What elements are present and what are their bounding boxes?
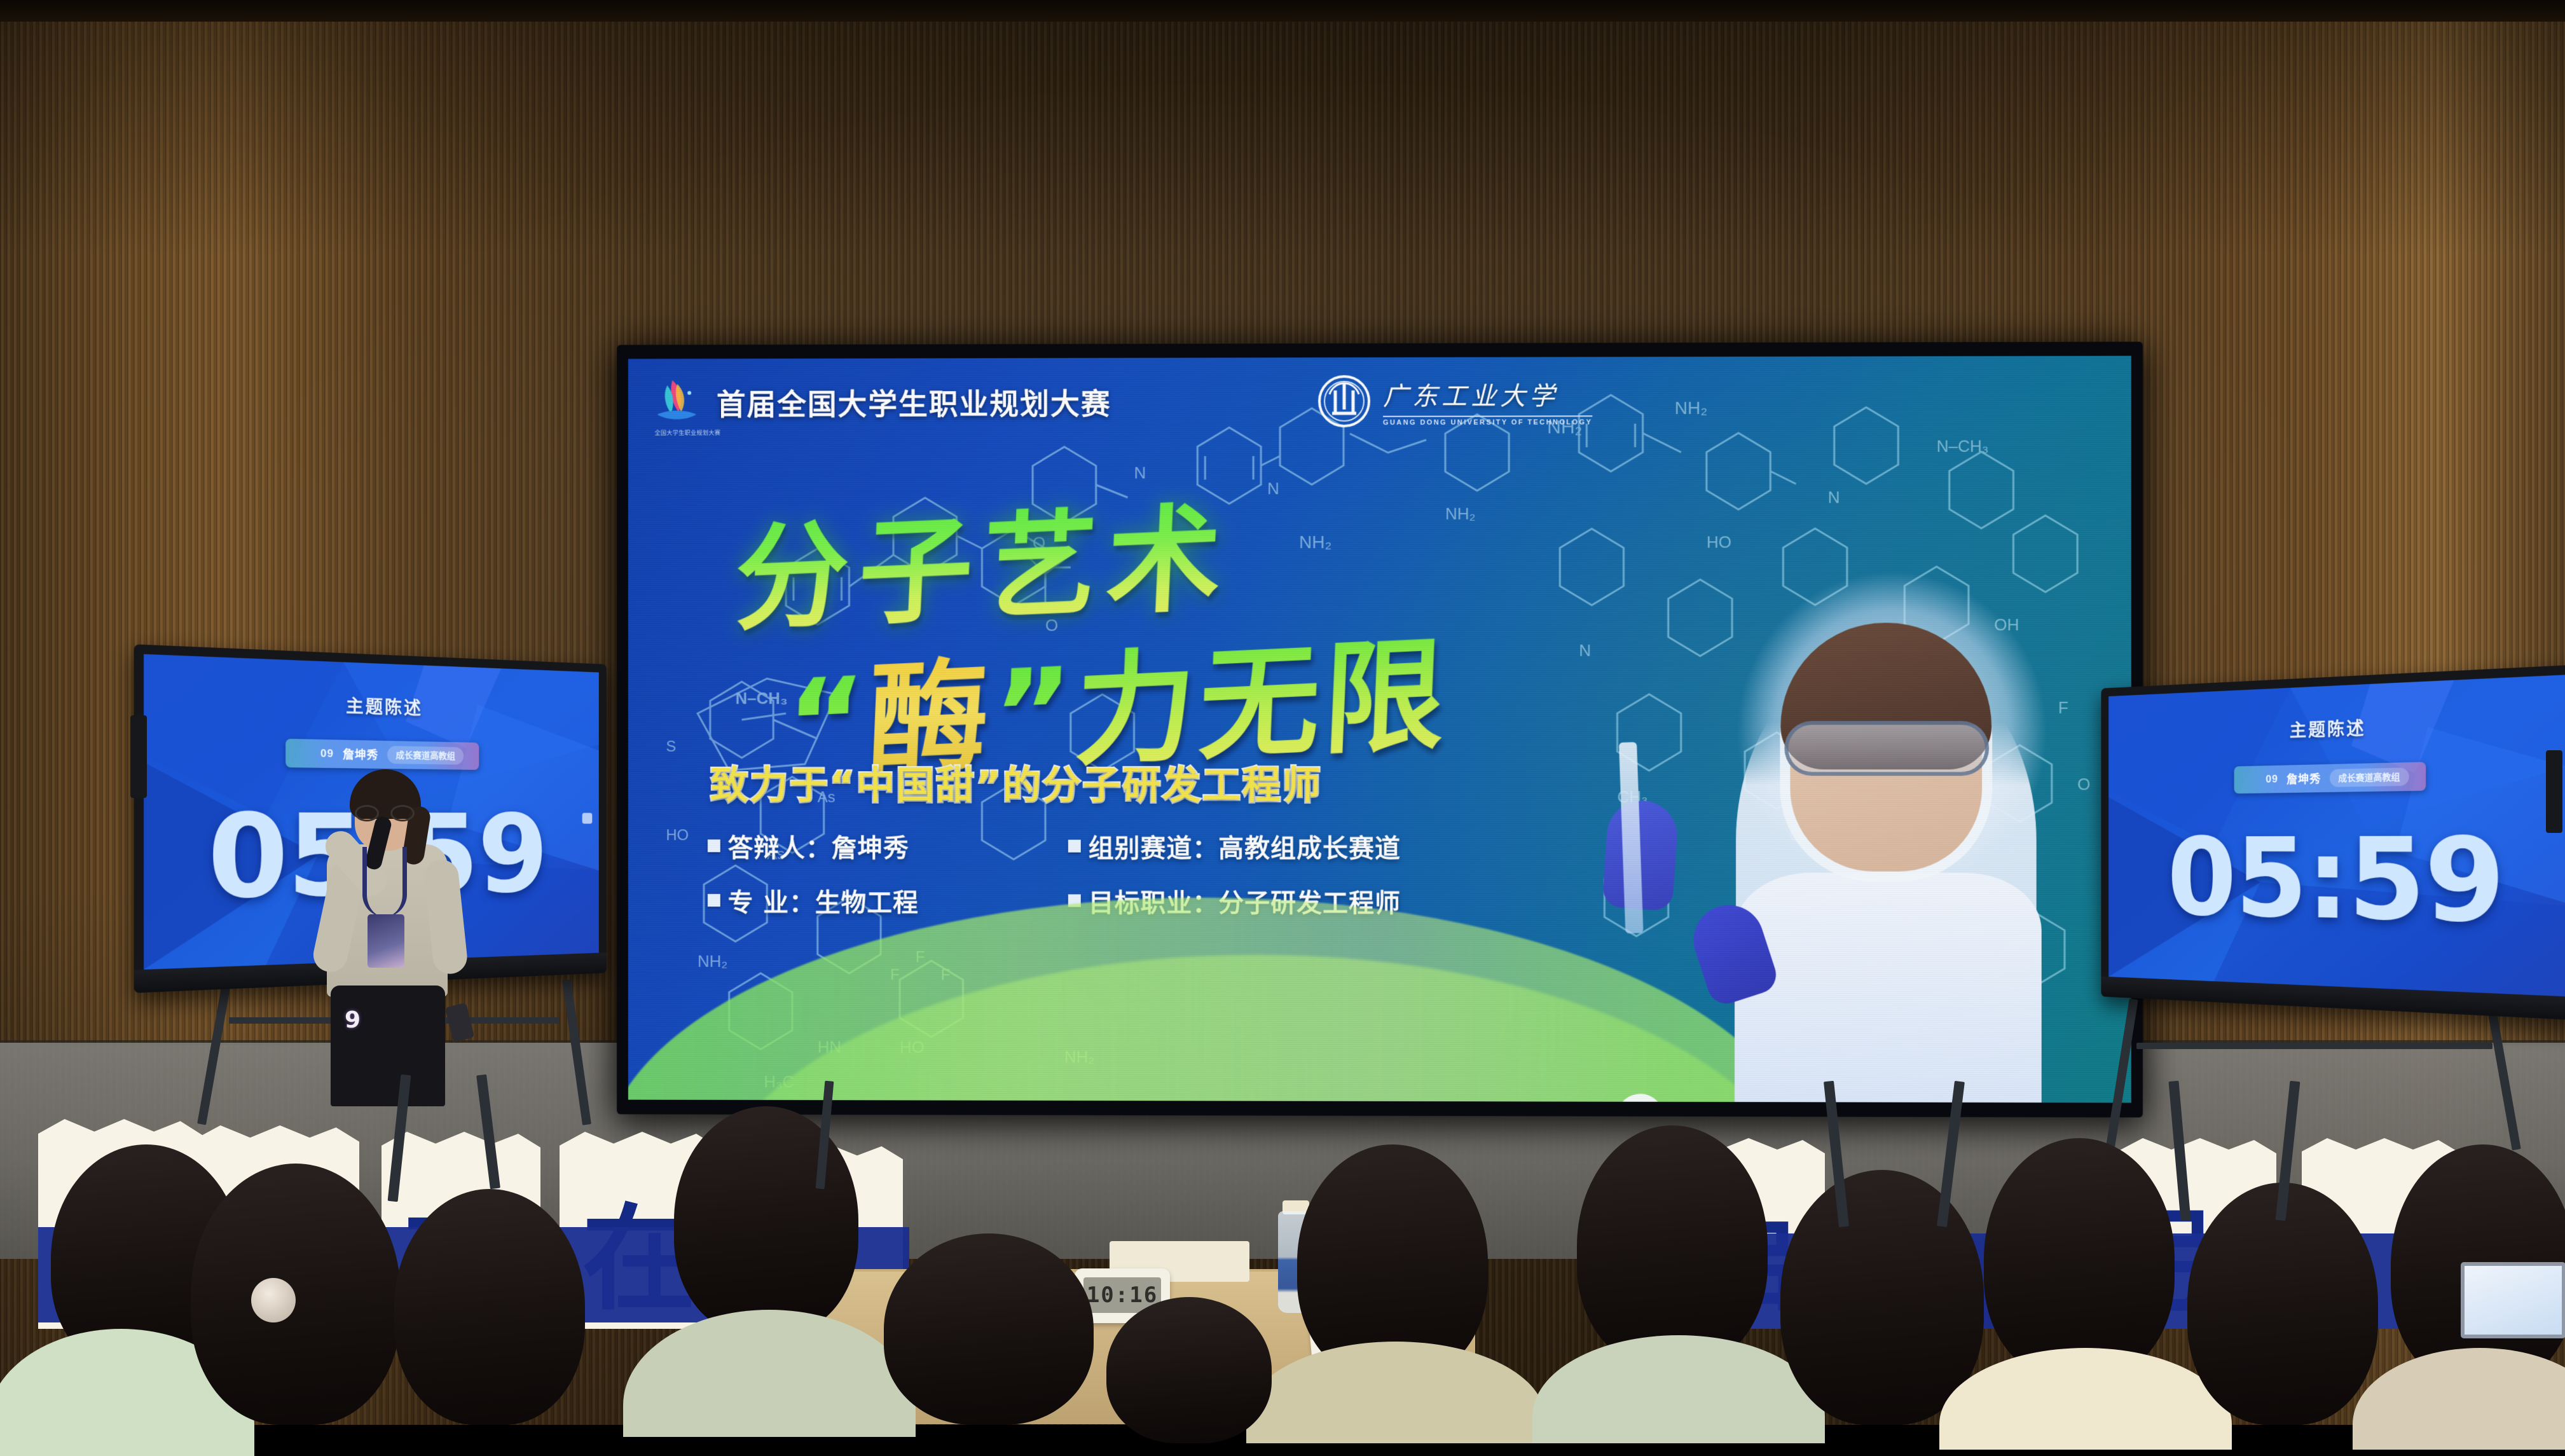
monitor-right-contestant-pill: 09 詹坤秀 成长赛道高教组: [2234, 762, 2426, 793]
side-monitor-right: 主题陈述 09 詹坤秀 成长赛道高教组 05:59: [2101, 664, 2565, 1021]
id-badge: [368, 914, 404, 968]
audience-head: [1577, 1125, 1768, 1367]
scientist-cutout-photo: [1660, 573, 2107, 1102]
audience-head: [394, 1189, 585, 1425]
clock-time: 10:16: [1087, 1282, 1158, 1308]
contestant-track: 成长赛道高教组: [2330, 767, 2409, 787]
audience-head: [1984, 1138, 2175, 1380]
info-row-presenter: 答辩人：詹坤秀: [708, 827, 1043, 864]
speaker-left: [130, 715, 147, 798]
monitor-right-screen: 主题陈述 09 詹坤秀 成长赛道高教组 05:59: [2108, 674, 2565, 997]
monitor-crossbar-right: [2136, 1043, 2493, 1049]
lab-coat: [1735, 872, 2042, 1102]
main-led-screen: N–CH₃ F F F H₃C HN HO NH₂ O O N N NH₂ NH…: [617, 341, 2143, 1117]
audience-head: [674, 1106, 858, 1335]
svg-text:N–CH₃: N–CH₃: [1937, 437, 1989, 455]
university-seal-icon: [1318, 375, 1370, 427]
info-row-text: 组别赛道：高教组成长赛道: [1089, 828, 1401, 865]
university-name: 广东工业大学: [1383, 375, 1592, 413]
contestant-number: 09: [2266, 773, 2278, 785]
audience-head: [191, 1164, 401, 1425]
svg-text:NH₂: NH₂: [1675, 398, 1707, 418]
university-block: 广东工业大学 GUANG DONG UNIVERSITY OF TECHNOLO…: [1318, 374, 1592, 427]
monitor-right-timer: 05:59: [2108, 823, 2565, 942]
square-bullet-icon: [708, 839, 720, 852]
speaker-right: [2546, 750, 2562, 833]
university-name-en: GUANG DONG UNIVERSITY OF TECHNOLOGY: [1383, 415, 1592, 427]
safety-goggles-icon: [1784, 721, 1989, 776]
lanyard: [362, 847, 407, 917]
logo-caption: 全国大学生职业规划大赛: [655, 429, 721, 437]
square-bullet-icon: [1068, 840, 1081, 853]
contestant-name: 詹坤秀: [2286, 770, 2321, 787]
audience-head: [884, 1233, 1094, 1425]
jersey-number: 9: [345, 1007, 361, 1033]
svg-text:NH₂: NH₂: [1299, 532, 1331, 552]
square-bullet-icon: [708, 894, 720, 907]
slide-subtitle: 致力于“中国甜”的分子研发工程师: [710, 755, 1323, 810]
slide-header: 全国大学生职业规划大赛 首届全国大学生职业规划大赛: [654, 377, 1111, 427]
audience-laptop: [2461, 1262, 2565, 1338]
info-row-track: 组别赛道：高教组成长赛道: [1068, 828, 1401, 865]
audience-head: [1780, 1170, 1984, 1425]
info-row-text: 答辩人：詹坤秀: [728, 827, 909, 864]
svg-text:N: N: [1828, 489, 1840, 507]
competition-logo-icon: 全国大学生职业规划大赛: [654, 378, 700, 427]
audience-head: [1106, 1297, 1272, 1443]
info-row-text: 专 业：生物工程: [728, 882, 919, 919]
svg-text:N: N: [1579, 642, 1591, 660]
svg-text:HO: HO: [666, 827, 689, 844]
presenter-on-stage: 9: [294, 750, 478, 1106]
svg-text:NH₂: NH₂: [1445, 505, 1476, 523]
svg-text:S: S: [666, 738, 676, 755]
svg-text:HO: HO: [1707, 533, 1731, 551]
svg-text:N–CH₃: N–CH₃: [736, 690, 788, 708]
home-button-icon[interactable]: [582, 813, 593, 823]
svg-text:NH₂: NH₂: [698, 953, 727, 971]
info-row-major: 专 业：生物工程: [708, 882, 1043, 919]
svg-text:N: N: [1267, 480, 1279, 498]
competition-title: 首届全国大学生职业规划大赛: [717, 381, 1111, 423]
presentation-slide: N–CH₃ F F F H₃C HN HO NH₂ O O N N NH₂ NH…: [628, 356, 2131, 1103]
hair-clip: [251, 1278, 296, 1322]
handheld-clicker: [445, 1003, 475, 1043]
